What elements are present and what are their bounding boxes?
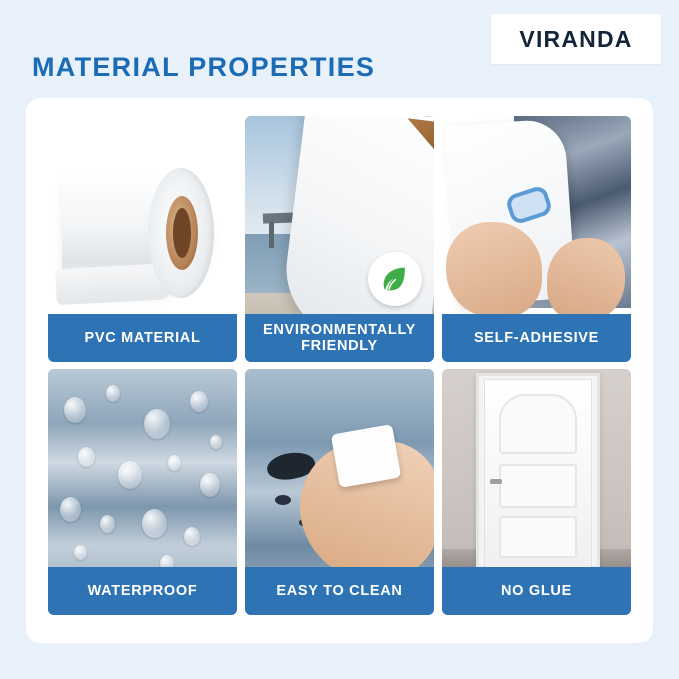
feature-label-waterproof: WATERPROOF (48, 567, 237, 615)
feature-tile-waterproof[interactable]: WATERPROOF (48, 369, 237, 615)
features-card: PVC MATERIAL ENVIRO (26, 98, 653, 643)
brand-badge: VIRANDA (491, 14, 661, 64)
feature-label-self-adhesive: SELF-ADHESIVE (442, 314, 631, 362)
feature-label-pvc-material: PVC MATERIAL (48, 314, 237, 362)
feature-label-no-glue: NO GLUE (442, 567, 631, 615)
page-title: MATERIAL PROPERTIES (32, 52, 375, 83)
feature-tile-pvc-material[interactable]: PVC MATERIAL (48, 116, 237, 362)
infographic-page: VIRANDA MATERIAL PROPERTIES PVC MATERIAL (0, 0, 679, 679)
feature-label-easy-to-clean: EASY TO CLEAN (245, 567, 434, 615)
features-grid: PVC MATERIAL ENVIRO (48, 116, 631, 615)
feature-label-environmentally-friendly: ENVIRONMENTALLY FRIENDLY (245, 314, 434, 362)
feature-tile-environmentally-friendly[interactable]: ENVIRONMENTALLY FRIENDLY (245, 116, 434, 362)
feature-tile-easy-to-clean[interactable]: EASY TO CLEAN (245, 369, 434, 615)
feature-tile-self-adhesive[interactable]: SELF-ADHESIVE (442, 116, 631, 362)
leaf-badge-icon (368, 252, 422, 306)
door-handle-icon (490, 479, 502, 484)
feature-tile-no-glue[interactable]: NO GLUE (442, 369, 631, 615)
brand-name: VIRANDA (519, 26, 632, 53)
